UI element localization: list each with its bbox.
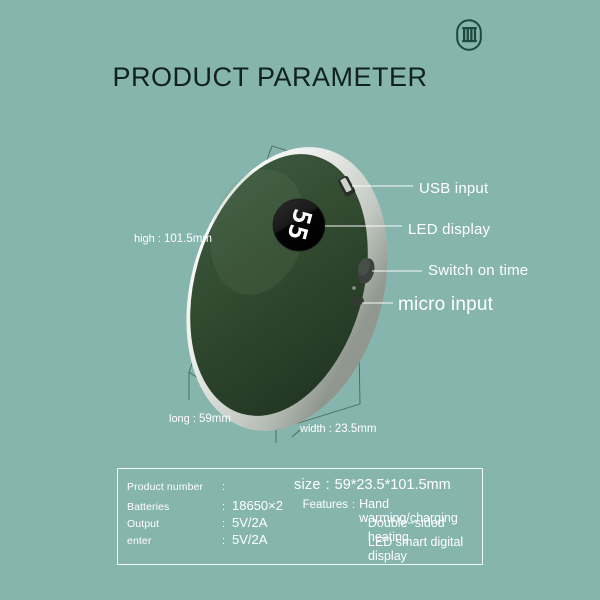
product-body bbox=[155, 123, 419, 455]
dimension-label-long: long : 59mm bbox=[169, 413, 231, 425]
spec-key-size: size bbox=[294, 477, 321, 493]
spec-row-output: Output : 5V/2A bbox=[127, 515, 283, 532]
dimension-width-colon: : bbox=[329, 423, 332, 435]
dimension-width-value: 23.5mm bbox=[335, 423, 377, 435]
dimension-high-value: 101.5mm bbox=[164, 233, 212, 245]
spec-colon-enter: : bbox=[222, 535, 232, 547]
spec-value-enter: 5V/2A bbox=[232, 532, 267, 547]
dimension-high-key: high bbox=[134, 233, 155, 245]
callout-label-switch-on-time: Switch on time bbox=[428, 262, 528, 279]
spec-row-features-2: Double−sided heating bbox=[294, 516, 482, 535]
spec-value-features-3: LED smart digital display bbox=[352, 535, 482, 563]
spec-key-output: Output bbox=[127, 518, 222, 530]
led-round-display-icon: 55 bbox=[273, 199, 325, 251]
spec-row-features-3: LED smart digital display bbox=[294, 535, 482, 554]
dimension-width-key: width bbox=[300, 423, 326, 435]
spec-value-output: 5V/2A bbox=[232, 515, 267, 530]
specification-panel: Product number : Batteries : 18650×2 Out… bbox=[117, 468, 483, 565]
callout-label-micro-input: micro input bbox=[398, 294, 493, 316]
spec-value-size: 59*23.5*101.5mm bbox=[335, 477, 451, 493]
dimension-long-key: long bbox=[169, 413, 190, 425]
product-parameter-infographic: PRODUCT PARAMETER bbox=[0, 0, 600, 600]
spec-key-features: Features bbox=[294, 499, 348, 511]
spec-key-enter: enter bbox=[127, 535, 222, 547]
spec-key-batteries: Batteries bbox=[127, 501, 222, 513]
spec-row-features-1: Features : Hand warming/charging bbox=[294, 497, 482, 516]
indicator-dot-icon bbox=[352, 286, 356, 290]
spec-colon-output: : bbox=[222, 518, 232, 530]
spec-colon-batteries: : bbox=[222, 501, 232, 513]
dimension-label-high: high : 101.5mm bbox=[134, 233, 212, 245]
spec-key-product-number: Product number bbox=[127, 481, 222, 493]
spec-left-column: Product number : Batteries : 18650×2 Out… bbox=[127, 481, 283, 549]
spec-row-size: size : 59*23.5*101.5mm bbox=[294, 477, 482, 497]
spec-right-column: size : 59*23.5*101.5mm Features : Hand w… bbox=[294, 477, 482, 554]
spec-colon-product-number: : bbox=[222, 481, 232, 493]
dimension-high-colon: : bbox=[158, 233, 161, 245]
spec-colon-features: : bbox=[348, 499, 359, 511]
callout-label-usb-input: USB input bbox=[419, 180, 488, 197]
spec-row-enter: enter : 5V/2A bbox=[127, 532, 283, 549]
dimension-long-value: 59mm bbox=[199, 413, 231, 425]
spec-colon-size: : bbox=[321, 477, 335, 493]
callout-label-led-display: LED display bbox=[408, 221, 490, 238]
spec-value-batteries: 18650×2 bbox=[232, 498, 283, 513]
spec-row-product-number: Product number : bbox=[127, 481, 283, 498]
dimension-label-width: width : 23.5mm bbox=[300, 423, 376, 435]
spec-row-batteries: Batteries : 18650×2 bbox=[127, 498, 283, 515]
dimension-long-colon: : bbox=[193, 413, 196, 425]
